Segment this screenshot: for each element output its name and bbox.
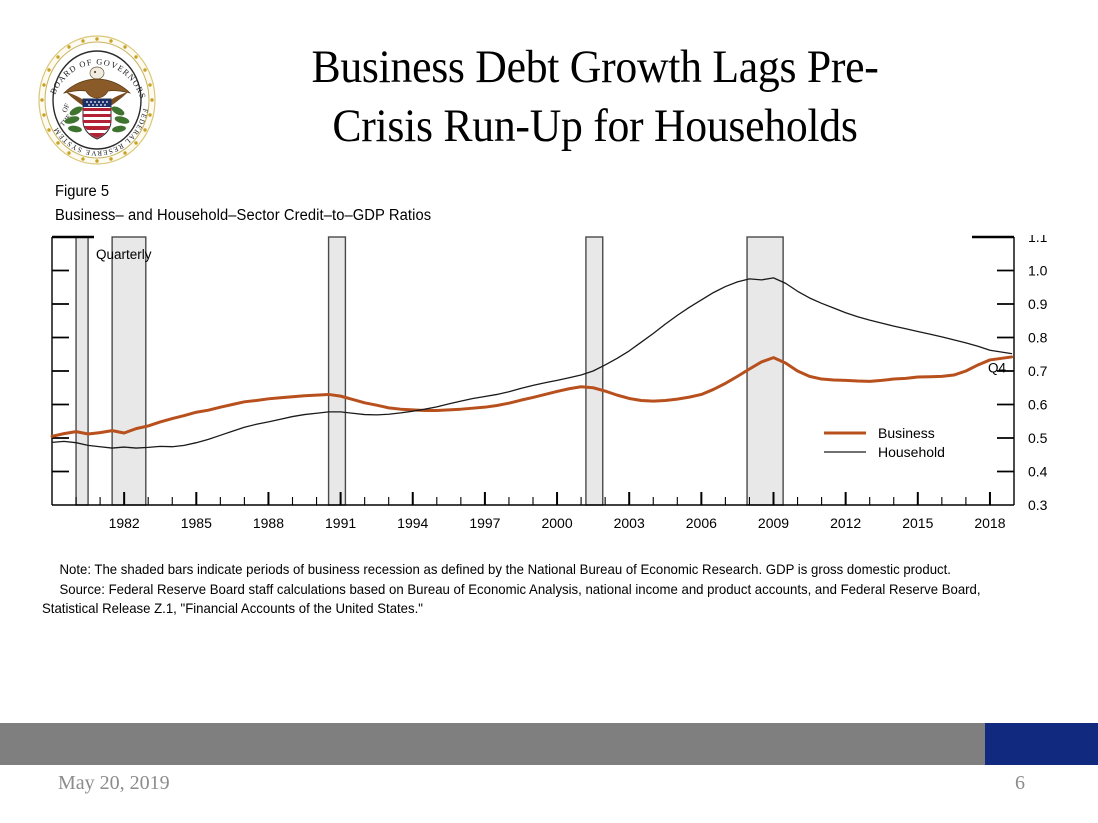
footer-page-number: 6 xyxy=(1015,772,1025,795)
footer-date: May 20, 2019 xyxy=(58,772,170,795)
legend-label-business: Business xyxy=(878,425,935,441)
footer-bar-blue xyxy=(985,723,1098,765)
last-point-label: Q4 xyxy=(988,361,1007,376)
federal-reserve-seal-icon: BOARD OF GOVERNORS FEDERAL RESERVE SYSTE… xyxy=(36,33,158,167)
frequency-label: Quarterly xyxy=(96,247,152,262)
page-title-line1: Business Debt Growth Lags Pre- xyxy=(311,41,878,93)
page-title-line2: Crisis Run-Up for Households xyxy=(332,100,857,152)
x-tick-label: 1991 xyxy=(325,515,356,531)
credit-to-gdp-chart: 0.30.40.50.60.70.80.91.01.1 198219851988… xyxy=(34,235,1074,535)
x-axis-tick-labels: 1982198519881991199419972000200320062009… xyxy=(109,515,1006,531)
y-tick-label: 0.6 xyxy=(1028,397,1048,413)
page-title: Business Debt Growth Lags Pre- Crisis Ru… xyxy=(228,38,963,156)
chart-legend: BusinessHousehold xyxy=(824,425,945,460)
x-tick-label: 2000 xyxy=(541,515,572,531)
chart-svg: 0.30.40.50.60.70.80.91.01.1 198219851988… xyxy=(34,235,1074,535)
x-tick-label: 2009 xyxy=(758,515,789,531)
y-tick-label: 1.1 xyxy=(1028,235,1048,245)
slide-header: BOARD OF GOVERNORS FEDERAL RESERVE SYSTE… xyxy=(0,0,1098,175)
y-tick-label: 0.8 xyxy=(1028,330,1048,346)
recession-bands xyxy=(76,237,783,505)
series-line-business xyxy=(52,357,1012,436)
footer-bar-gray xyxy=(0,723,985,765)
x-tick-label: 2006 xyxy=(686,515,717,531)
x-tick-label: 2018 xyxy=(974,515,1005,531)
figure-number: Figure 5 xyxy=(55,183,109,201)
figure-subtitle: Business– and Household–Sector Credit–to… xyxy=(55,207,431,225)
x-tick-label: 2012 xyxy=(830,515,861,531)
x-tick-label: 2015 xyxy=(902,515,933,531)
y-tick-label: 1.0 xyxy=(1028,263,1048,279)
x-tick-label: 1985 xyxy=(181,515,212,531)
legend-label-household: Household xyxy=(878,444,945,460)
y-tick-label: 0.9 xyxy=(1028,296,1048,312)
y-axis-tick-labels: 0.30.40.50.60.70.80.91.01.1 xyxy=(1028,235,1048,513)
series-lines xyxy=(52,278,1012,448)
x-tick-label: 1982 xyxy=(109,515,140,531)
y-tick-label: 0.5 xyxy=(1028,430,1048,446)
y-tick-label: 0.3 xyxy=(1028,497,1048,513)
x-tick-label: 2003 xyxy=(614,515,645,531)
figure-note: Note: The shaded bars indicate periods o… xyxy=(42,560,1033,580)
figure-notes: Note: The shaded bars indicate periods o… xyxy=(42,560,1033,619)
y-tick-label: 0.4 xyxy=(1028,464,1048,480)
x-tick-label: 1997 xyxy=(469,515,500,531)
x-tick-label: 1988 xyxy=(253,515,284,531)
figure-block: Figure 5 Business– and Household–Sector … xyxy=(0,175,1098,645)
x-tick-label: 1994 xyxy=(397,515,428,531)
series-line-household xyxy=(52,278,1012,448)
plot-frame xyxy=(52,237,1014,505)
figure-source: Source: Federal Reserve Board staff calc… xyxy=(42,580,1033,619)
y-axis-ticks-right xyxy=(997,237,1014,472)
y-tick-label: 0.7 xyxy=(1028,363,1048,379)
x-axis-ticks xyxy=(76,492,990,505)
